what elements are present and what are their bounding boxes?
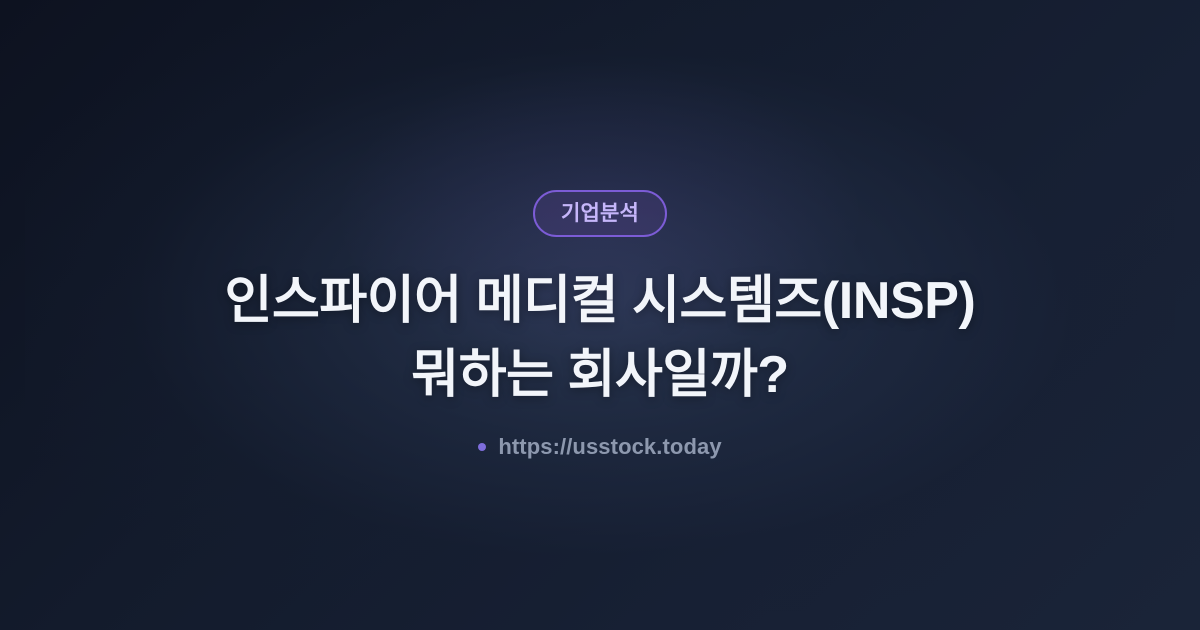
og-image-card: 기업분석 인스파이어 메디컬 시스템즈(INSP) 뭐하는 회사일까? http…	[0, 0, 1200, 630]
page-title-line-2: 뭐하는 회사일까?	[100, 338, 1100, 412]
card-content: 기업분석 인스파이어 메디컬 시스템즈(INSP) 뭐하는 회사일까? http…	[0, 0, 1200, 630]
category-badge-label: 기업분석	[561, 203, 639, 224]
category-badge: 기업분석	[533, 190, 667, 237]
page-title-line-1: 인스파이어 메디컬 시스템즈(INSP)	[100, 264, 1100, 338]
site-url-row: https://usstock.today	[478, 436, 721, 458]
bullet-dot-icon	[478, 443, 486, 451]
site-url-text: https://usstock.today	[498, 436, 721, 458]
page-title: 인스파이어 메디컬 시스템즈(INSP) 뭐하는 회사일까?	[100, 264, 1100, 412]
